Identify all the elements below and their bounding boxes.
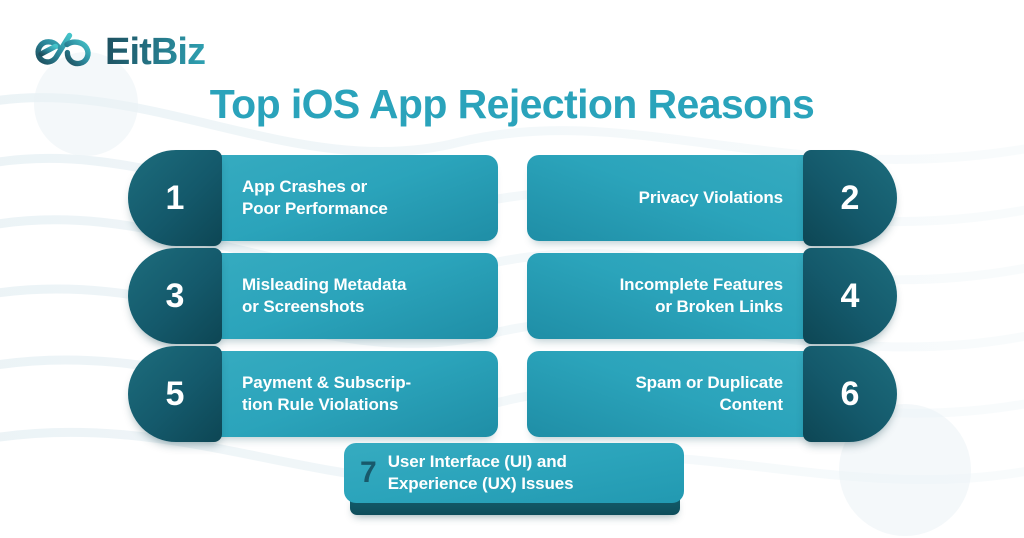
reason-number-badge-1: 1: [128, 150, 222, 246]
reason-line1-2: Privacy Violations: [639, 188, 783, 207]
reason-text-5: Payment & Subscrip- tion Rule Violations: [206, 351, 498, 437]
reason-text-6: Spam or Duplicate Content: [527, 351, 819, 437]
reason-number-badge-2: 2: [803, 150, 897, 246]
reason-line1-3: Misleading Metadata: [242, 275, 406, 294]
reason-number-badge-6: 6: [803, 346, 897, 442]
eb-monogram-icon: [34, 31, 96, 73]
infographic-page: EitBiz Top iOS App Rejection Reasons 1 A…: [0, 0, 1024, 538]
page-title: Top iOS App Rejection Reasons: [0, 82, 1024, 128]
reason-number-badge-4: 4: [803, 248, 897, 344]
reason-card-5[interactable]: 5 Payment & Subscrip- tion Rule Violatio…: [128, 351, 498, 437]
reason-number-badge-5: 5: [128, 346, 222, 442]
reason-row-3: 5 Payment & Subscrip- tion Rule Violatio…: [0, 351, 1024, 437]
reason-line2-6: Content: [719, 395, 783, 414]
reason-line1-5: Payment & Subscrip-: [242, 373, 411, 392]
reason-row-1: 1 App Crashes or Poor Performance 2 Priv…: [0, 155, 1024, 241]
reason-line1-4: Incomplete Features: [620, 275, 783, 294]
reason-line2-7: Experience (UX) Issues: [388, 474, 574, 493]
reason-line2-4: or Broken Links: [655, 297, 783, 316]
reason-text-1: App Crashes or Poor Performance: [206, 155, 498, 241]
reason-line1-6: Spam or Duplicate: [635, 373, 783, 392]
brand-name: EitBiz: [105, 33, 205, 71]
brand-logo: EitBiz: [34, 28, 205, 76]
reason-card-4[interactable]: 4 Incomplete Features or Broken Links: [527, 253, 897, 339]
reason-card-6[interactable]: 6 Spam or Duplicate Content: [527, 351, 897, 437]
reason-line2-3: or Screenshots: [242, 297, 364, 316]
reason-text-4: Incomplete Features or Broken Links: [527, 253, 819, 339]
reason-row-2: 3 Misleading Metadata or Screenshots 4 I…: [0, 253, 1024, 339]
reason-card-7[interactable]: 7 User Interface (UI) and Experience (UX…: [344, 443, 684, 503]
reason-number-badge-7: 7: [360, 458, 377, 488]
reason-number-badge-3: 3: [128, 248, 222, 344]
reason-line1-1: App Crashes or: [242, 177, 367, 196]
reason-line2-1: Poor Performance: [242, 199, 388, 218]
reason-card-1[interactable]: 1 App Crashes or Poor Performance: [128, 155, 498, 241]
reason-text-7: User Interface (UI) and Experience (UX) …: [388, 451, 574, 495]
reason-line2-5: tion Rule Violations: [242, 395, 398, 414]
reason-card-3[interactable]: 3 Misleading Metadata or Screenshots: [128, 253, 498, 339]
reason-card-2[interactable]: 2 Privacy Violations: [527, 155, 897, 241]
reason-line1-7: User Interface (UI) and: [388, 452, 567, 471]
reason-text-3: Misleading Metadata or Screenshots: [206, 253, 498, 339]
reason-text-2: Privacy Violations: [527, 155, 819, 241]
